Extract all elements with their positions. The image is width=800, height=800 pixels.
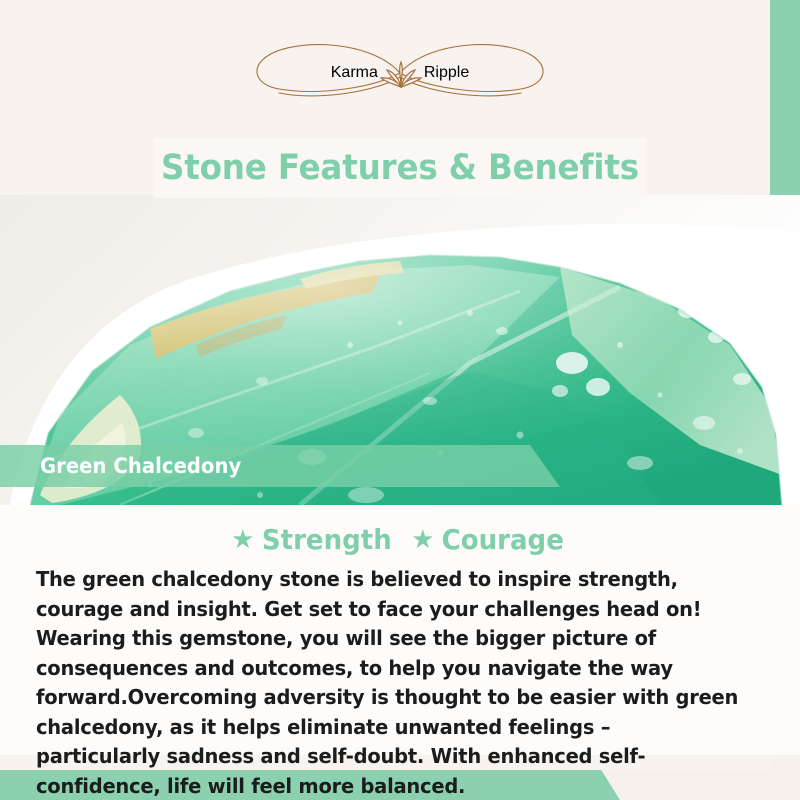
star-icon: ★: [411, 527, 434, 553]
brand-logo: Karma Ripple: [0, 38, 800, 108]
brand-name-right: Ripple: [424, 64, 469, 82]
keyword-list: ★ Strength ★ Courage: [0, 505, 800, 556]
keyword-label: Courage: [442, 523, 564, 556]
description-paragraph: The green chalcedony stone is believed t…: [36, 565, 740, 800]
gemstone-photo: Green Chalcedony: [0, 195, 800, 505]
photo-caption-text: Green Chalcedony: [40, 454, 241, 478]
lotus-infinity-icon: [378, 53, 424, 93]
stone-info-card: Karma Ripple: [0, 0, 800, 800]
keyword-courage: ★ Courage: [411, 523, 569, 556]
title-banner: Stone Features & Benefits: [154, 138, 646, 198]
keyword-label: Strength: [262, 523, 392, 556]
page-title: Stone Features & Benefits: [161, 148, 639, 188]
photo-caption-band: Green Chalcedony: [0, 445, 560, 487]
brand-name-left: Karma: [331, 64, 378, 82]
star-icon: ★: [231, 527, 254, 553]
keyword-strength: ★ Strength: [231, 523, 397, 556]
body-section: ★ Strength ★ Courage The green chalcedon…: [0, 505, 800, 755]
